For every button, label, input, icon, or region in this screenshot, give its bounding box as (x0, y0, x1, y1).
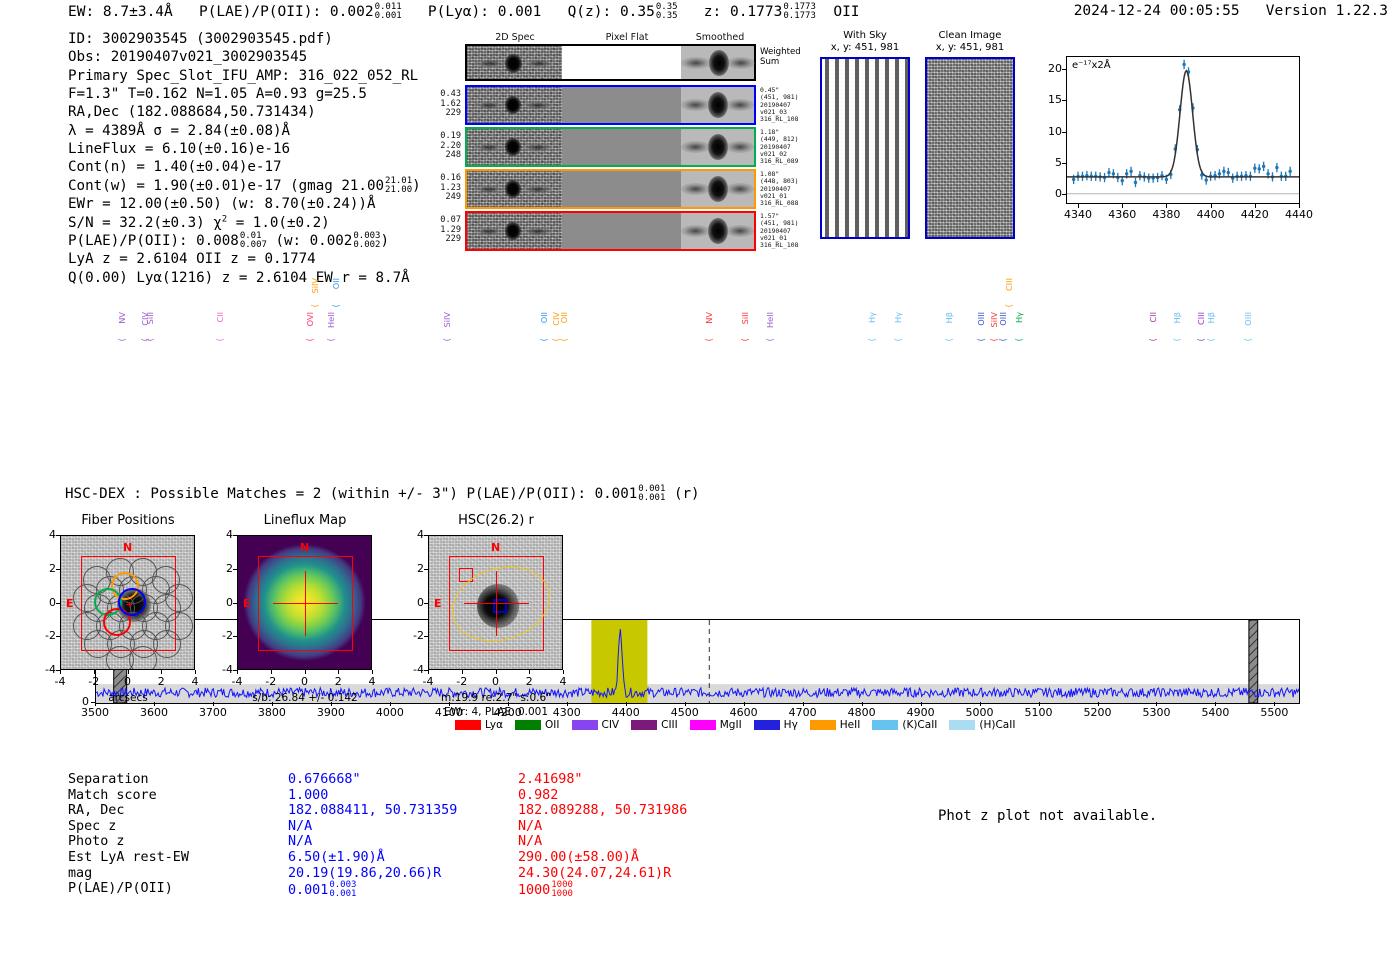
legend-color-chip (872, 720, 898, 730)
info-lineflux: LineFlux = 6.10(±0.16)e-16 (68, 140, 421, 158)
info-sn-post: = 1.0(±0.2) (227, 215, 330, 231)
linefit-xtick: 4380 (1150, 208, 1182, 221)
info-plae-w-lo: 0.002 (353, 240, 380, 250)
match-value-blue: 0.0010.0030.001 (288, 881, 518, 899)
fiber-strip-meta: 1.08"(448, 803)20190407v021_01316_RL_088 (760, 171, 810, 207)
plae-red-lo: 1000 (551, 889, 573, 899)
compass-north: N (123, 541, 132, 554)
panel-xtick-mark (462, 670, 463, 674)
photz-note: Phot z plot not available. (938, 808, 1157, 824)
panel-xtick-mark (563, 670, 564, 674)
spectrum-xtick: 5200 (1076, 706, 1120, 719)
linefit-ytick: 5 (1040, 156, 1062, 169)
panel-ytick: -2 (211, 629, 233, 642)
panel-ytick: -2 (34, 629, 56, 642)
linefit-xtick-mark (1211, 204, 1212, 208)
spectrum-xtick-mark (744, 702, 745, 706)
source-info-block: ID: 3002903545 (3002903545.pdf) Obs: 201… (68, 30, 421, 287)
panel-xtick-mark (195, 670, 196, 674)
linefit-xtick: 4420 (1239, 208, 1271, 221)
panel-xtick-mark (60, 670, 61, 674)
info-cont-w: Cont(w) = 1.90(±0.01)e-17 (gmag 21.0021.… (68, 177, 421, 196)
emission-line-bracket: ( (332, 304, 342, 307)
emission-line-label: CII (215, 312, 225, 323)
linefit-ytick: 20 (1040, 62, 1062, 75)
panel-ytick-mark (56, 535, 60, 536)
header-plae-lo: 0.001 (375, 11, 402, 21)
linefit-ytick-mark (1062, 163, 1066, 164)
linefit-ytick: 15 (1040, 93, 1062, 106)
linefit-xtick-mark (1078, 204, 1079, 208)
emission-line-label: HeII (765, 312, 775, 328)
emission-line-label: SiIV (442, 312, 452, 328)
header-summary: EW: 8.7±3.4Å P(LAE)/P(OII): 0.0020.0110.… (68, 3, 860, 21)
panel-xtick: 2 (145, 675, 177, 688)
linefit-xtick-mark (1299, 204, 1300, 208)
legend-label: (K)CaII (902, 719, 937, 731)
plae-blue-lo: 0.001 (329, 889, 356, 899)
panel-xtick-mark (237, 670, 238, 674)
match-row-label: Match score (68, 788, 288, 804)
emission-line-bracket: ( (1197, 338, 1207, 341)
emission-line-label: Hγ (1014, 312, 1024, 323)
panel-xtick: 2 (513, 675, 545, 688)
spectrum-xtick-mark (803, 702, 804, 706)
match-value-red: N/A (518, 819, 687, 835)
compass-east: E (434, 597, 442, 610)
info-plae-mid: (w: 0.002 (267, 233, 352, 249)
with-sky-image (820, 57, 910, 239)
emission-line-label: OIII (976, 312, 986, 326)
hscdex-headline: HSC-DEX : Possible Matches = 2 (within +… (65, 485, 700, 503)
fiber-strip-meta: 1.18"(449, 812)20190407v021_02316_RL_089 (760, 129, 810, 165)
emission-line-label: Hβ (1172, 312, 1182, 323)
cutout-title-text: Clean Image (925, 30, 1015, 42)
match-value-red: 290.00(±58.00)Å (518, 850, 687, 866)
fiber-meta-line: 316_RL_108 (760, 116, 810, 123)
emission-line-label: Hγ (867, 312, 877, 323)
header-z: z: 0.1773 (704, 4, 783, 20)
strip-title-2dspec: 2D Spec (465, 32, 565, 43)
panel-xtick-mark (305, 670, 306, 674)
spectrum-xtick-mark (1274, 702, 1275, 706)
header-z-lo: 0.1773 (783, 11, 816, 21)
fiber-strip (465, 211, 756, 251)
emission-line-label: SiIV (310, 278, 320, 294)
linefit-ytick-mark (1062, 100, 1066, 101)
match-row-label: RA, Dec (68, 803, 288, 819)
spectrum-xtick-mark (980, 702, 981, 706)
panel-ytick-mark (424, 636, 428, 637)
emission-line-bracket: ( (741, 338, 751, 341)
legend-label: CIII (661, 719, 678, 731)
emission-line-labels: NV(SiII(CIV(CII(OVI(HeII(SiIV(OII(SiIV(O… (0, 270, 1400, 350)
match-value-blue: 6.50(±1.90)Å (288, 850, 518, 866)
fiber-metric-value: 229 (425, 235, 461, 245)
match-value-red: 182.089288, 50.731986 (518, 803, 687, 819)
emission-line-bracket: ( (306, 338, 316, 341)
emission-line-label: OII (539, 312, 549, 323)
table-row: Spec zN/AN/A (68, 819, 687, 835)
panel-xtick-mark (428, 670, 429, 674)
info-cont-w-lo: 21.00 (385, 185, 412, 195)
image-panel-0[interactable]: + (60, 535, 195, 670)
emission-line-label: Hγ (893, 312, 903, 323)
panel-ytick: 0 (402, 596, 424, 609)
linefit-ytick-mark (1062, 69, 1066, 70)
match-value-blue: N/A (288, 834, 518, 850)
plae-red-main: 1000 (518, 883, 550, 898)
emission-line-bracket: ( (540, 338, 550, 341)
panel-ytick: -2 (402, 629, 424, 642)
table-row: Photo zN/AN/A (68, 834, 687, 850)
linefit-xtick: 4360 (1106, 208, 1138, 221)
panel-ytick: 4 (211, 528, 233, 541)
info-obs: Obs: 20190407v021_3002903545 (68, 48, 421, 66)
panel-xtick-mark (372, 670, 373, 674)
panel-xtick: 0 (112, 675, 144, 688)
panel-xtick-mark (128, 670, 129, 674)
fiber-strip (465, 85, 756, 125)
linefit-xtick: 4400 (1195, 208, 1227, 221)
match-table: Separation0.676668"2.41698"Match score1.… (68, 772, 687, 900)
panel-ytick-mark (424, 535, 428, 536)
emission-line-label: Hβ (1206, 312, 1216, 323)
header-plya: P(Lyα): 0.001 (428, 4, 542, 20)
panel-xtick: -2 (255, 675, 287, 688)
info-ewr: EWr = 12.00(±0.50) (w: 8.70(±0.24))Å (68, 195, 421, 213)
info-id: ID: 3002903545 (3002903545.pdf) (68, 30, 421, 48)
emission-line-bracket: ( (945, 338, 955, 341)
match-row-label: Separation (68, 772, 288, 788)
emission-line-bracket: ( (705, 338, 715, 341)
legend-color-chip (810, 720, 836, 730)
emission-line-bracket: ( (868, 338, 878, 341)
panel-xtick-mark (529, 670, 530, 674)
table-row: Est LyA rest-EW6.50(±1.90)Å290.00(±58.00… (68, 850, 687, 866)
panel-xtick: -4 (44, 675, 76, 688)
linefit-ytick: 10 (1040, 125, 1062, 138)
compass-east: E (66, 597, 74, 610)
spectrum-xtick-mark (862, 702, 863, 706)
panel-ytick: 2 (211, 562, 233, 575)
legend-label: MgII (720, 719, 742, 731)
panel-xtick: -2 (446, 675, 478, 688)
panel-xtick: 0 (289, 675, 321, 688)
header-qz-lo: 0.35 (656, 11, 678, 21)
legend-color-chip (754, 720, 780, 730)
emission-line-bracket: ( (1207, 338, 1217, 341)
emission-line-bracket: ( (1015, 338, 1025, 341)
info-plae-pre: P(LAE)/P(OII): 0.008 (68, 233, 239, 249)
header-plae-poii: P(LAE)/P(OII): 0.002 (199, 4, 374, 20)
clean-image (925, 57, 1015, 239)
panel-xtick-mark (161, 670, 162, 674)
cutout-title-text: With Sky (820, 30, 910, 42)
legend-color-chip (690, 720, 716, 730)
spectrum-xtick-mark (1215, 702, 1216, 706)
panel-title: HSC(26.2) r (406, 513, 586, 528)
panel-ytick-mark (233, 636, 237, 637)
fiber-row-metrics: 0.431.62229 (425, 90, 461, 119)
match-value-red: 2.41698" (518, 772, 687, 788)
panel-xtick: -4 (221, 675, 253, 688)
emission-line-label: Hβ (944, 312, 954, 323)
panel-ytick-mark (56, 636, 60, 637)
match-row-label: Spec z (68, 819, 288, 835)
full-spectrum-panel: NV(SiII(CIV(CII(OVI(HeII(SiIV(OII(SiIV(O… (0, 270, 1400, 470)
panel-xtick-mark (94, 670, 95, 674)
match-value-blue: N/A (288, 819, 518, 835)
emission-line-label: CII (1148, 312, 1158, 323)
linefit-xtick-mark (1255, 204, 1256, 208)
panel-ytick: 4 (34, 528, 56, 541)
emission-line-bracket: ( (560, 338, 570, 341)
info-lambda: λ = 4389Å σ = 2.84(±0.08)Å (68, 122, 421, 140)
header-ew: EW: 8.7±3.4Å (68, 4, 173, 20)
linefit-ytick-mark (1062, 132, 1066, 133)
spectrum-xtick-mark (1098, 702, 1099, 706)
panel-ytick: 0 (34, 596, 56, 609)
linefit-xtick-mark (1166, 204, 1167, 208)
image-panel-1[interactable] (237, 535, 372, 670)
emission-line-bracket: ( (1149, 338, 1159, 341)
panel-title: Lineflux Map (215, 513, 395, 528)
match-value-red: 24.30(24.07,24.61)R (518, 866, 687, 882)
table-row: P(LAE)/P(OII)0.0010.0030.001100010001000 (68, 881, 687, 899)
info-sn-pre: S/N = 32.2(±0.3) χ (68, 215, 222, 231)
panel-xlabel: arcsecs (38, 692, 218, 704)
panel-xtick: 4 (179, 675, 211, 688)
emission-line-label: OVI (305, 312, 315, 326)
spectrum-xtick-mark (921, 702, 922, 706)
panel-caption-1: m:19.9 re:2.7" s:0.6" (406, 692, 586, 704)
match-row-label: P(LAE)/P(OII) (68, 881, 288, 899)
spectrum-xtick: 5500 (1252, 706, 1296, 719)
version-text: Version 1.22.3 (1266, 3, 1388, 19)
info-cont-w-pre: Cont(w) = 1.90(±0.01)e-17 (gmag 21.00 (68, 178, 384, 194)
fiber-meta-line: 316_RL_089 (760, 158, 810, 165)
compass-north: N (491, 541, 500, 554)
imaging-panels: Fiber Positions+NE420-2-4-4-2024arcsecsL… (0, 505, 640, 745)
cutout-panel: With Skyx, y: 451, 981Clean Imagex, y: 4… (820, 30, 1015, 245)
emission-line-bracket: ( (999, 338, 1009, 341)
plae-blue-main: 0.001 (288, 883, 328, 898)
cutout-coords: x, y: 451, 981 (820, 42, 910, 54)
emission-line-bracket: ( (118, 338, 128, 341)
emission-line-label: OII (331, 278, 341, 289)
match-value-red: 100010001000 (518, 881, 687, 899)
strip-title-pixelflat: Pixel Flat (577, 32, 677, 43)
cutout-coords: x, y: 451, 981 (925, 42, 1015, 54)
cutout-title: With Skyx, y: 451, 981 (820, 30, 910, 54)
fiber-strip-meta: 1.57"(451, 981)20190407v021_01316_RL_108 (760, 213, 810, 249)
emission-line-label: CIII (1004, 278, 1014, 291)
match-value-blue: 0.676668" (288, 772, 518, 788)
strip-title-smoothed: Smoothed (670, 32, 770, 43)
emission-line-bracket: ( (1005, 304, 1015, 307)
panel-xtick: 0 (480, 675, 512, 688)
info-plae-lo: 0.007 (240, 240, 267, 250)
timestamp-version: 2024-12-24 00:05:55 Version 1.22.3 (1074, 3, 1388, 19)
legend-label: (H)CaII (979, 719, 1015, 731)
info-plae-post: ) (380, 233, 389, 249)
linefit-xtick-mark (1122, 204, 1123, 208)
fiber-metric-value: 248 (425, 151, 461, 161)
panel-ytick: 0 (211, 596, 233, 609)
table-row: Match score1.0000.982 (68, 788, 687, 804)
legend-color-chip (949, 720, 975, 730)
panel-ytick-mark (56, 603, 60, 604)
emission-line-bracket: ( (141, 338, 151, 341)
emission-line-bracket: ( (443, 338, 453, 341)
cutout-title: Clean Imagex, y: 451, 981 (925, 30, 1015, 54)
panel-xtick: 2 (322, 675, 354, 688)
emission-line-label: NV (117, 312, 127, 324)
panel-caption-2: EWr: 4, PLAE: 0.001 (406, 706, 586, 718)
panel-xtick-mark (338, 670, 339, 674)
spectrum-xtick-mark (1156, 702, 1157, 706)
panel-xtick: 4 (547, 675, 579, 688)
emission-line-bracket: ( (1244, 338, 1254, 341)
timestamp-text: 2024-12-24 00:05:55 (1074, 3, 1240, 19)
hscdex-pre: HSC-DEX : Possible Matches = 2 (within +… (65, 486, 637, 502)
panel-xtick: 4 (356, 675, 388, 688)
emission-line-bracket: ( (766, 338, 776, 341)
table-row: RA, Dec182.088411, 50.731359182.089288, … (68, 803, 687, 819)
fiber-meta-line: 316_RL_108 (760, 242, 810, 249)
panel-ytick: 4 (402, 528, 424, 541)
hscdex-lo: 0.001 (638, 493, 665, 503)
weighted-sum-strip (465, 44, 756, 81)
spec2d-panel: 2D Spec Pixel Flat Smoothed Weighted Sum… (425, 32, 810, 252)
panel-ytick: 2 (402, 562, 424, 575)
panel-ytick: 2 (34, 562, 56, 575)
panel-xtick-mark (496, 670, 497, 674)
header-z-type: OII (833, 4, 859, 20)
spectrum-xtick: 5400 (1193, 706, 1237, 719)
emission-line-label: OII (559, 312, 569, 323)
panel-ytick-mark (233, 569, 237, 570)
match-row-label: Photo z (68, 834, 288, 850)
emission-line-label: NV (704, 312, 714, 324)
emission-line-bracket: ( (1173, 338, 1183, 341)
weighted-sum-label: Weighted Sum (760, 48, 801, 67)
info-plae: P(LAE)/P(OII): 0.0080.010.007 (w: 0.0020… (68, 232, 421, 251)
linefit-ytick: 0 (1040, 187, 1062, 200)
fiber-strip-rows: 0.431.622290.45"(451, 981)20190407v021_0… (425, 85, 810, 253)
emission-line-label: HeII (326, 312, 336, 328)
compass-east: E (243, 597, 251, 610)
spectrum-xtick-mark (1039, 702, 1040, 706)
info-seeing: F=1.3" T=0.162 N=1.05 A=0.93 g=25.5 (68, 85, 421, 103)
emission-line-bracket: ( (216, 338, 226, 341)
linefit-ytick-mark (1062, 194, 1066, 195)
info-radec: RA,Dec (182.088684,50.731434) (68, 103, 421, 121)
linefit-curve (1067, 57, 1299, 203)
linefit-plot: e⁻¹⁷x2Å 05101520 43404360438044004420444… (1030, 50, 1305, 245)
linefit-xtick: 4440 (1283, 208, 1315, 221)
hscdex-post: (r) (674, 486, 700, 502)
match-value-red: 0.982 (518, 788, 687, 804)
match-value-blue: 182.088411, 50.731359 (288, 803, 518, 819)
panel-caption-1: s/b: 26.84 +/- 0.142 (215, 692, 395, 704)
fiber-metric-value: 229 (425, 109, 461, 119)
crosshair-vertical (496, 571, 497, 636)
table-row: mag20.19(19.86,20.66)R24.30(24.07,24.61)… (68, 866, 687, 882)
center-cross: + (126, 599, 133, 610)
legend-label: Hγ (784, 719, 798, 731)
fiber-row-metrics: 0.161.23249 (425, 174, 461, 203)
emission-line-label: SiII (740, 312, 750, 324)
crosshair-vertical (305, 571, 306, 636)
emission-line-bracket: ( (311, 304, 321, 307)
emission-line-bracket: ( (977, 338, 987, 341)
panel-title: Fiber Positions (38, 513, 218, 528)
compass-north: N (300, 541, 309, 554)
match-row-label: Est LyA rest-EW (68, 850, 288, 866)
legend-label: HeII (840, 719, 861, 731)
panel-ytick-mark (233, 535, 237, 536)
fiber-strip (465, 127, 756, 167)
info-sn: S/N = 32.2(±0.3) χ2 = 1.0(±0.2) (68, 214, 421, 232)
table-row: Separation0.676668"2.41698" (68, 772, 687, 788)
fiber-strip-meta: 0.45"(451, 981)20190407v021_03316_RL_108 (760, 87, 810, 123)
match-value-blue: 20.19(19.86,20.66)R (288, 866, 518, 882)
spectrum-xtick-mark (685, 702, 686, 706)
panel-ytick-mark (424, 569, 428, 570)
fiber-meta-line: 316_RL_088 (760, 200, 810, 207)
panel-xtick-mark (271, 670, 272, 674)
match-value-blue: 1.000 (288, 788, 518, 804)
emission-line-label: CIII (1196, 312, 1206, 325)
fiber-row-metrics: 0.071.29229 (425, 216, 461, 245)
panel-ytick-mark (233, 603, 237, 604)
info-redshifts: LyA z = 2.6104 OII z = 0.1774 (68, 250, 421, 268)
info-primary-spec: Primary Spec_Slot_IFU_AMP: 316_022_052_R… (68, 67, 421, 85)
fiber-strip (465, 169, 756, 209)
emission-line-label: OIII (998, 312, 1008, 326)
panel-ytick-mark (424, 603, 428, 604)
header-qz: Q(z): 0.35 (568, 4, 655, 20)
emission-line-bracket: ( (327, 338, 337, 341)
weighted-sum-line2: Sum (760, 58, 801, 68)
match-value-red: N/A (518, 834, 687, 850)
info-cont-w-post: ) (412, 178, 421, 194)
emission-line-label: OIII (1243, 312, 1253, 326)
emission-line-bracket: ( (894, 338, 904, 341)
info-cont-n: Cont(n) = 1.40(±0.04)e-17 (68, 158, 421, 176)
fiber-row-metrics: 0.192.20248 (425, 132, 461, 161)
panel-xtick: -2 (78, 675, 110, 688)
image-panel-2[interactable] (428, 535, 563, 670)
linefit-xtick: 4340 (1062, 208, 1094, 221)
match-row-label: mag (68, 866, 288, 882)
spectrum-xtick: 5300 (1134, 706, 1178, 719)
panel-ytick-mark (56, 569, 60, 570)
fiber-metric-value: 249 (425, 193, 461, 203)
panel-xtick: -4 (412, 675, 444, 688)
emission-line-label: CIV (140, 312, 150, 326)
